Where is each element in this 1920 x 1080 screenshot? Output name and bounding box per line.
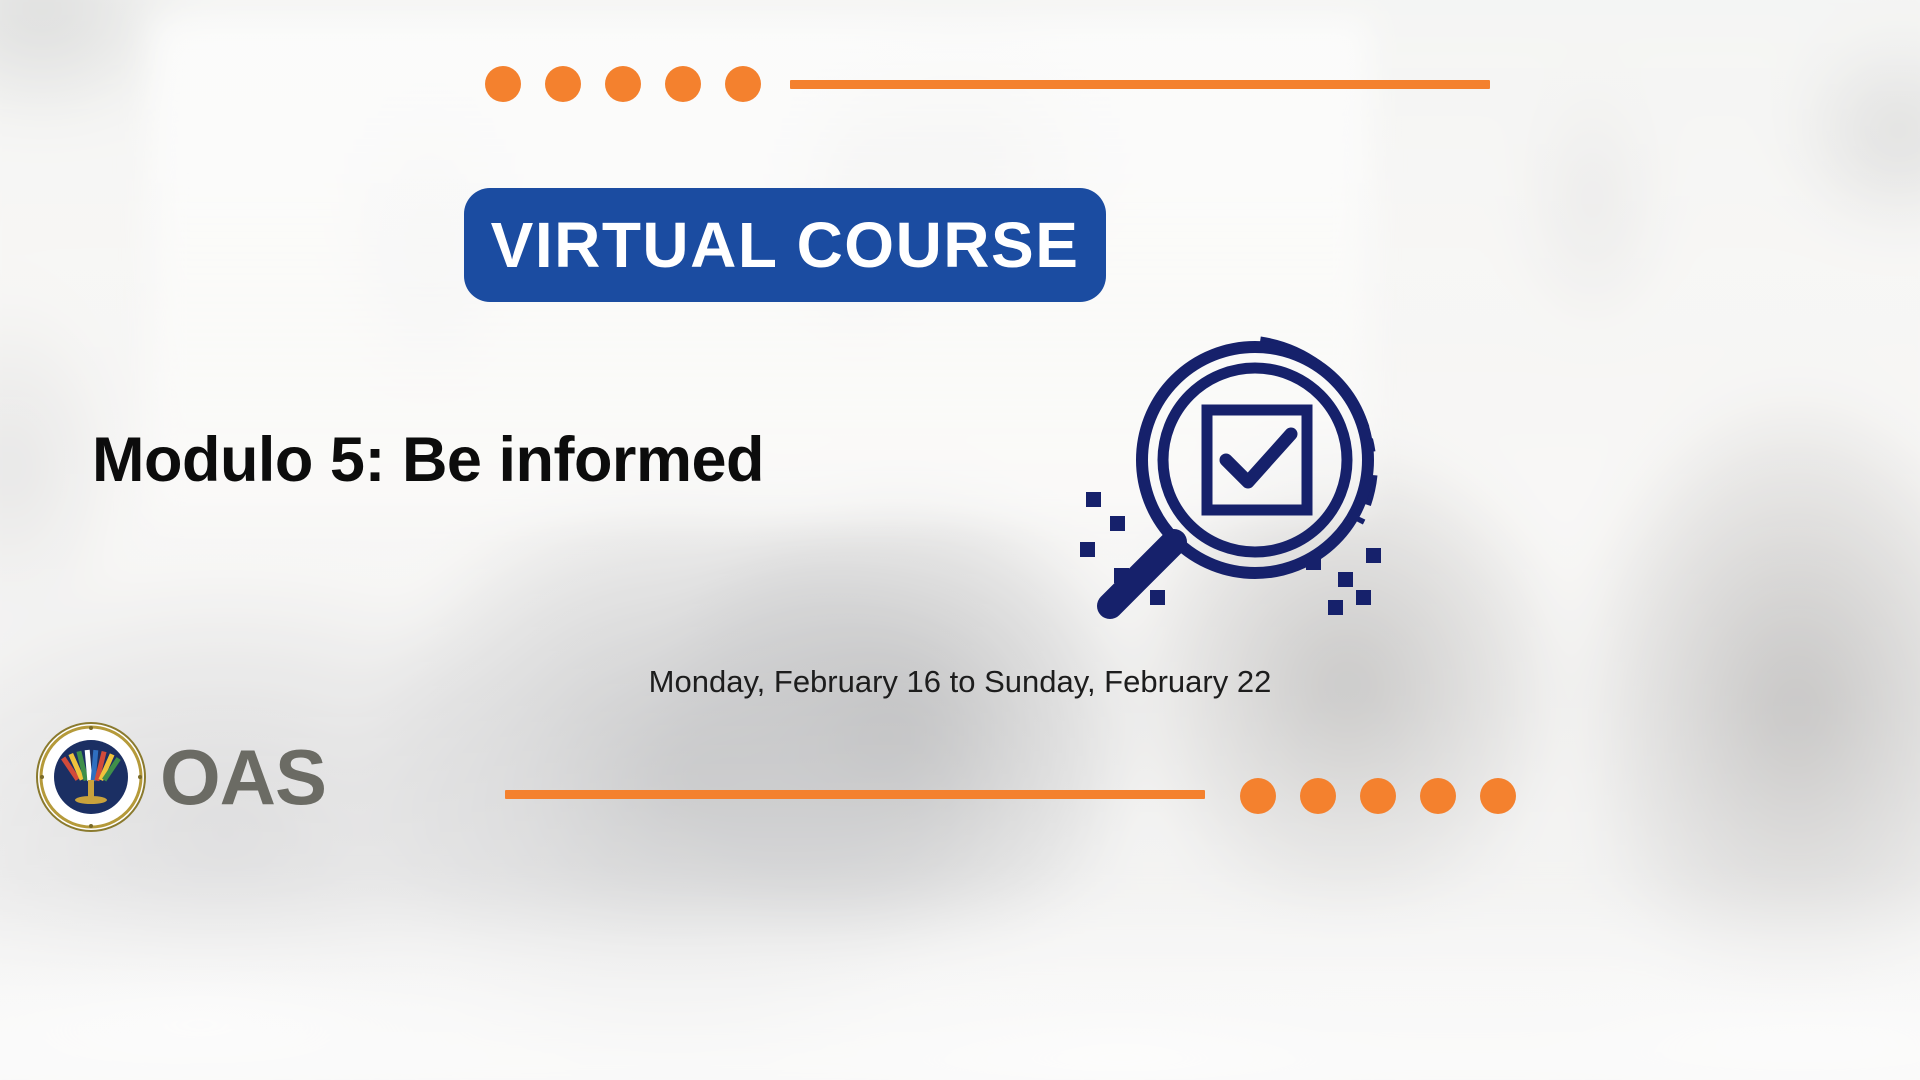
course-type-label: VIRTUAL COURSE [491, 213, 1080, 277]
top-horizontal-rule [790, 80, 1490, 89]
orange-dot-icon [605, 66, 641, 102]
bottom-horizontal-rule [505, 790, 1205, 799]
orange-dot-icon [1300, 778, 1336, 814]
orange-dot-icon [1240, 778, 1276, 814]
orange-dot-icon [545, 66, 581, 102]
magnifier-checkmark-icon [1070, 300, 1410, 630]
oas-logo: OAS [36, 722, 326, 832]
orange-dot-icon [1480, 778, 1516, 814]
orange-dot-icon [1360, 778, 1396, 814]
oas-wordmark: OAS [160, 738, 326, 816]
slide-canvas: VIRTUAL COURSE Modulo 5: Be informed [0, 0, 1920, 1080]
orange-dot-icon [485, 66, 521, 102]
page-title: Modulo 5: Be informed [92, 424, 764, 496]
background-gradient-overlay [0, 0, 1920, 1080]
top-dot-row [485, 66, 761, 102]
event-dates: Monday, February 16 to Sunday, February … [0, 664, 1920, 700]
bottom-dot-row [1240, 778, 1516, 814]
orange-dot-icon [665, 66, 701, 102]
orange-dot-icon [1420, 778, 1456, 814]
background-photo [0, 0, 1920, 1080]
course-type-badge: VIRTUAL COURSE [464, 188, 1106, 302]
orange-dot-icon [725, 66, 761, 102]
oas-seal-icon [36, 722, 146, 832]
